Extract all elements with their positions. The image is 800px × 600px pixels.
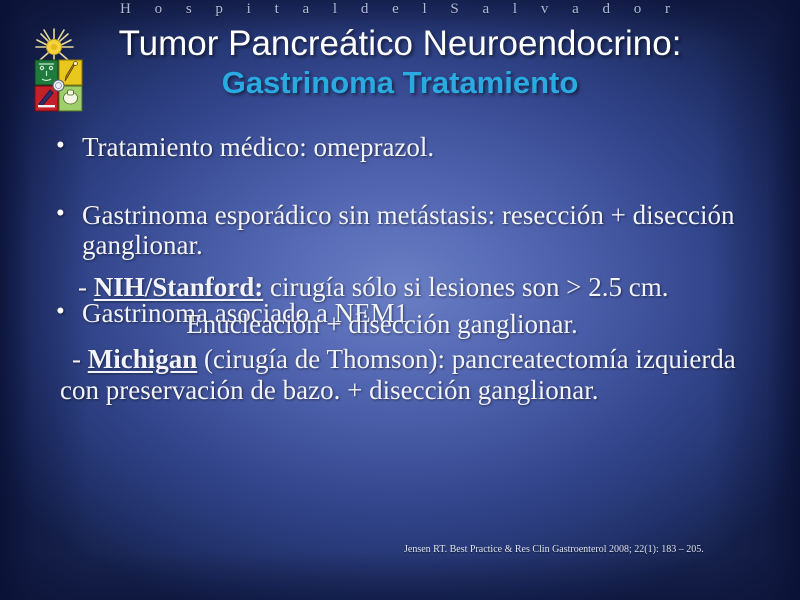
detail-line-nih: - NIH/Stanford: cirugía sólo si lesiones…: [0, 272, 800, 303]
slide-subtitle: Gastrinoma Tratamiento: [0, 64, 800, 102]
slide-main-title: Tumor Pancreático Neuroendocrino:: [0, 24, 800, 64]
presentation-slide: H o s p i t a l d e l S a l v a d o r: [0, 0, 800, 600]
detail-label-michigan: Michigan: [88, 344, 198, 374]
bullet-item: Gastrinoma esporádico sin metástasis: re…: [0, 200, 800, 260]
detail-line-michigan: - Michigan (cirugía de Thomson): pancrea…: [0, 340, 800, 406]
detail-dash: -: [72, 344, 81, 374]
detail-text-nih: cirugía sólo si lesiones son > 2.5 cm.: [270, 272, 668, 302]
slide-title-block: Tumor Pancreático Neuroendocrino: Gastri…: [0, 24, 800, 102]
detail-dash: -: [78, 272, 87, 302]
bullet-item: Tratamiento médico: omeprazol.: [0, 132, 800, 162]
source-citation: Jensen RT. Best Practice & Res Clin Gast…: [404, 543, 800, 556]
hospital-name-band: H o s p i t a l d e l S a l v a d o r: [0, 1, 800, 18]
detail-label-nih: NIH/Stanford:: [94, 272, 264, 302]
detail-line-enucleation: Enucleación + disección ganglionar.: [0, 303, 800, 340]
detail-lines: - NIH/Stanford: cirugía sólo si lesiones…: [0, 272, 800, 406]
